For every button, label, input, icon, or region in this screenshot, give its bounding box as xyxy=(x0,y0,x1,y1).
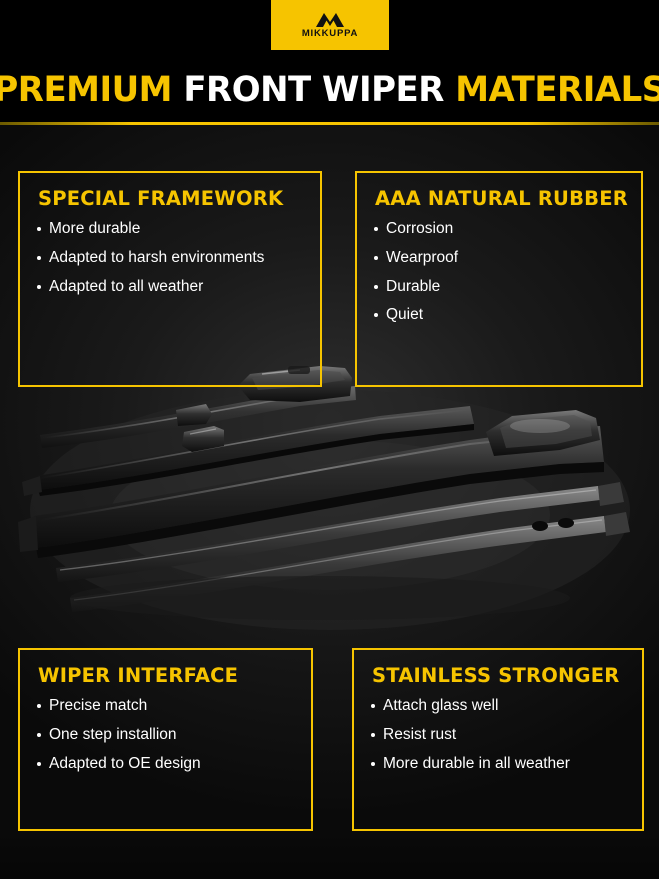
list-item: Precise match xyxy=(36,697,295,715)
feature-list: Corrosion Wearproof Durable Quiet xyxy=(373,220,625,324)
title-underline xyxy=(0,122,659,125)
brand-bar: MIKKUPPA xyxy=(0,0,659,56)
list-item: More durable in all weather xyxy=(370,755,626,773)
feature-title: SPECIAL FRAMEWORK xyxy=(38,187,304,210)
list-item: Adapted to all weather xyxy=(36,278,304,296)
feature-title: STAINLESS STRONGER xyxy=(372,664,626,687)
list-item: Adapted to OE design xyxy=(36,755,295,773)
list-item: Adapted to harsh environments xyxy=(36,249,304,267)
list-item: Quiet xyxy=(373,306,625,324)
feature-list: Attach glass well Resist rust More durab… xyxy=(370,697,626,772)
feature-box-special-framework: SPECIAL FRAMEWORK More durable Adapted t… xyxy=(18,171,322,387)
feature-box-aaa-natural-rubber: AAA NATURAL RUBBER Corrosion Wearproof D… xyxy=(355,171,643,387)
list-item: Attach glass well xyxy=(370,697,626,715)
poster-root: MIKKUPPA PREMIUM FRONT WIPER MATERIALS xyxy=(0,0,659,879)
bottom-fade xyxy=(0,831,659,879)
title-part-3: MATERIALS xyxy=(455,70,659,110)
list-item: Corrosion xyxy=(373,220,625,238)
mountain-peak-icon xyxy=(315,11,345,28)
title-banner: PREMIUM FRONT WIPER MATERIALS xyxy=(0,56,659,124)
list-item: One step installion xyxy=(36,726,295,744)
feature-title: AAA NATURAL RUBBER xyxy=(375,187,625,210)
title-part-1: PREMIUM xyxy=(0,70,172,110)
list-item: Durable xyxy=(373,278,625,296)
list-item: More durable xyxy=(36,220,304,238)
brand-name: MIKKUPPA xyxy=(302,29,358,39)
list-item: Wearproof xyxy=(373,249,625,267)
list-item: Resist rust xyxy=(370,726,626,744)
feature-list: Precise match One step installion Adapte… xyxy=(36,697,295,772)
page-title: PREMIUM FRONT WIPER MATERIALS xyxy=(0,70,659,110)
brand-logo: MIKKUPPA xyxy=(271,0,389,50)
title-part-2: FRONT WIPER xyxy=(183,70,444,110)
feature-title: WIPER INTERFACE xyxy=(38,664,295,687)
feature-box-wiper-interface: WIPER INTERFACE Precise match One step i… xyxy=(18,648,313,831)
feature-box-stainless-stronger: STAINLESS STRONGER Attach glass well Res… xyxy=(352,648,644,831)
feature-list: More durable Adapted to harsh environmen… xyxy=(36,220,304,295)
